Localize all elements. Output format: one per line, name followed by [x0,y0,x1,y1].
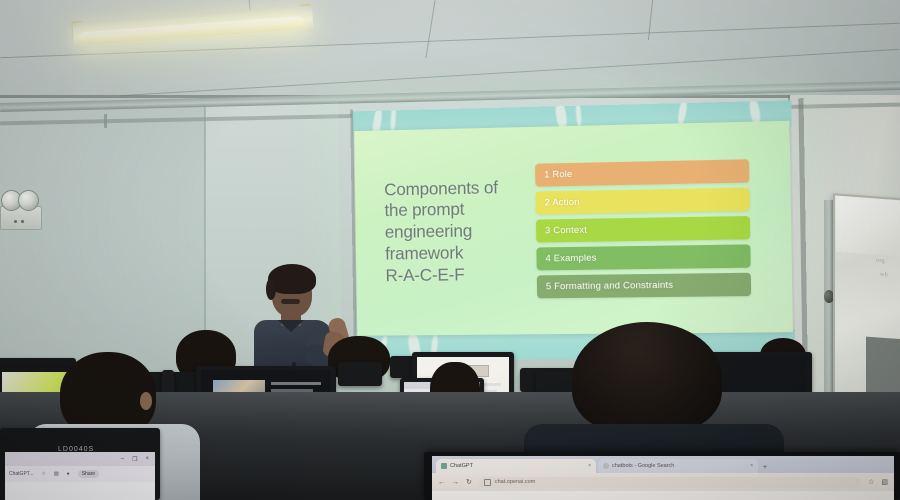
ceiling [0,0,900,95]
secondary-browser-window[interactable]: – ❐ × ChatGPT... ☆ ▧ ● Share [5,452,155,500]
whiteboard-glare [836,196,900,257]
sidebar-panel-icon[interactable]: ▧ [881,478,888,486]
tab-title: chatbots - Google Search [612,463,674,469]
back-icon[interactable]: ← [438,479,445,486]
tab-close-icon[interactable]: × [750,463,753,469]
google-favicon-icon [603,463,609,469]
slide-title-line: framework [385,242,523,265]
emergency-lamp-icon [18,190,39,211]
foreground-browser-window[interactable]: ChatGPT × chatbots - Google Search × + ←… [432,456,894,500]
monitor [338,362,382,386]
maximize-icon[interactable]: ❐ [132,456,137,463]
classroom-photo-scene: org wh Components of the prompt engineer… [0,0,900,500]
presenter-hair-side [266,278,276,300]
browser-page-area [432,491,894,500]
browser-toolbar: ← → ↻ chat.openai.com ☆ ▧ [432,473,894,491]
emergency-light [0,186,40,230]
whiteboard-note: org [876,258,885,265]
browser-tabstrip: ChatGPT × chatbots - Google Search × + [432,456,894,473]
slide-bar-formatting: 5 Formatting and Constraints [537,272,751,298]
close-icon[interactable]: × [145,456,149,462]
conduit-drop [104,114,107,128]
bookmark-star-icon[interactable]: ☆ [41,471,45,477]
slide-title-line: the prompt [384,198,522,222]
student-head [572,322,722,434]
address-bar-url: chat.openai.com [495,479,535,485]
slide-card: Components of the prompt engineering fra… [354,121,793,336]
address-bar[interactable]: chat.openai.com [479,477,861,488]
projection-screen: Components of the prompt engineering fra… [352,100,795,360]
browser-toolbar: ChatGPT... ☆ ▧ ● Share [5,466,155,482]
browser-page-area [5,482,155,500]
slide-bar-context: 3 Context [536,215,750,242]
emergency-led-icon [21,220,24,223]
foreground-monitor: ChatGPT × chatbots - Google Search × + ←… [424,452,900,500]
monitor-text-line [271,382,321,385]
profile-icon[interactable]: ● [67,471,70,477]
student-ear [140,392,152,410]
forward-icon[interactable]: → [452,479,459,486]
reload-icon[interactable]: ↻ [466,478,472,486]
slide-title-line: R-A-C-E-F [385,263,523,286]
chatgpt-favicon-icon [441,463,447,469]
tab-chip-label[interactable]: ChatGPT... [9,471,33,477]
slide-bar-action: 2 Action [535,187,749,214]
slide-title-line: engineering [385,220,523,244]
lock-icon [484,479,491,486]
browser-tab-google-search[interactable]: chatbots - Google Search × [598,459,758,473]
slide-bar-role: 1 Role [535,159,749,186]
share-button[interactable]: Share [78,470,99,478]
slide-bar-examples: 4 Examples [536,244,750,270]
presenter-mustache [281,299,300,304]
slide-title-line: Components of [384,177,522,201]
tab-title: ChatGPT [450,463,473,469]
minimize-icon[interactable]: – [121,456,124,462]
slide-title: Components of the prompt engineering fra… [384,177,523,287]
sidebar-panel-icon[interactable]: ▧ [54,471,59,477]
window-titlebar: – ❐ × [5,452,155,466]
bookmark-star-icon[interactable]: ☆ [868,478,874,486]
emergency-led-icon [14,220,17,223]
browser-tab-chatgpt[interactable]: ChatGPT × [436,459,596,473]
tab-close-icon[interactable]: × [588,463,591,469]
whiteboard-note: wh [880,272,888,279]
new-tab-button[interactable]: + [760,464,767,473]
slide-bar-list: 1 Role 2 Action 3 Context 4 Examples 5 F… [535,159,751,298]
